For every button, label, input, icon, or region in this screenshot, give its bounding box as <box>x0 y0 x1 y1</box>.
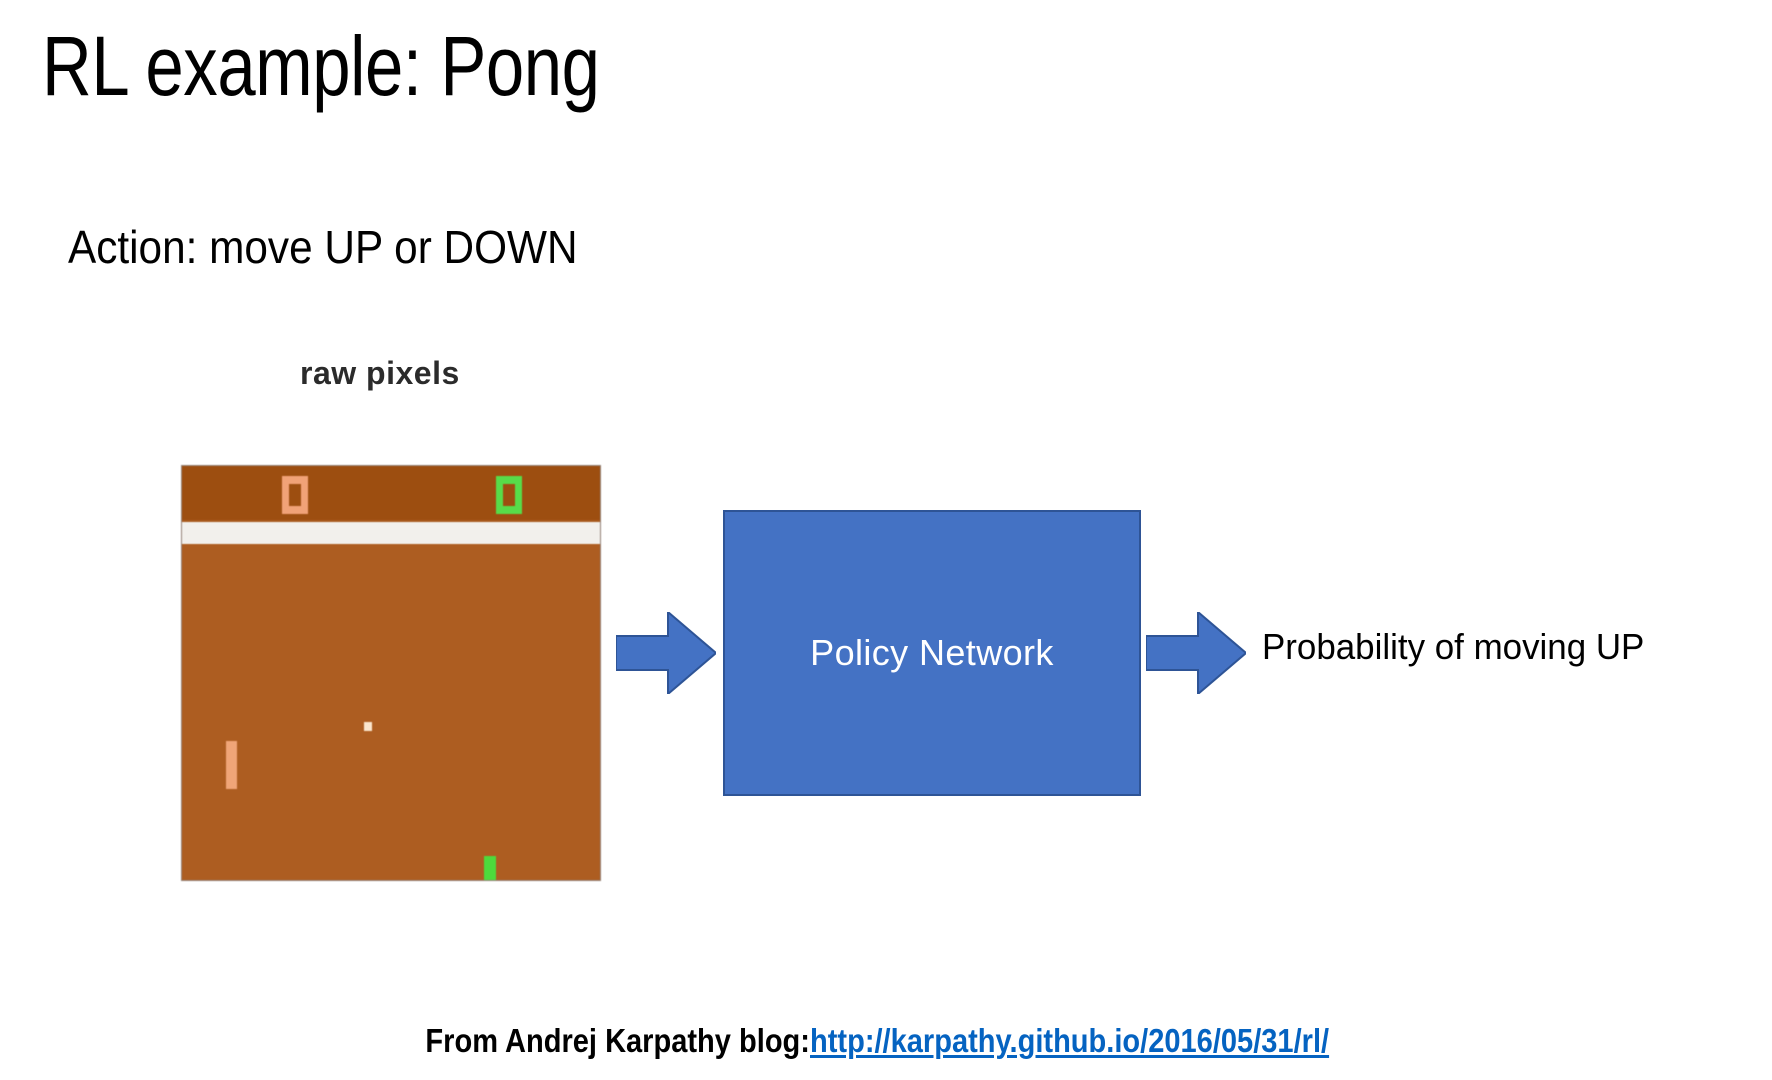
page-title: RL example: Pong <box>42 22 600 110</box>
right-arrow-icon <box>1146 612 1246 694</box>
pong-paddle-left <box>226 741 237 789</box>
pong-playfield <box>182 544 600 880</box>
pong-score-band: 0 0 <box>182 466 600 520</box>
pong-score-left: 0 <box>282 476 308 514</box>
footer-credit-text: From Andrej Karpathy blog: <box>425 1022 810 1060</box>
pong-paddle-right <box>484 856 496 880</box>
policy-network-box[interactable]: Policy Network <box>723 510 1141 796</box>
action-caption: Action: move UP or DOWN <box>68 222 578 273</box>
footer-credit: From Andrej Karpathy blog: http://karpat… <box>0 1022 1772 1060</box>
right-arrow-icon <box>616 612 716 694</box>
policy-network-label: Policy Network <box>810 632 1054 674</box>
pong-ball <box>364 722 372 731</box>
output-label: Probability of moving UP <box>1262 626 1644 668</box>
raw-pixels-label: raw pixels <box>300 355 460 392</box>
pong-score-right: 0 <box>496 476 522 514</box>
footer-credit-link[interactable]: http://karpathy.github.io/2016/05/31/rl/ <box>810 1022 1329 1060</box>
pong-divider-bar <box>182 522 600 544</box>
pong-game-screenshot: 0 0 <box>182 466 600 880</box>
